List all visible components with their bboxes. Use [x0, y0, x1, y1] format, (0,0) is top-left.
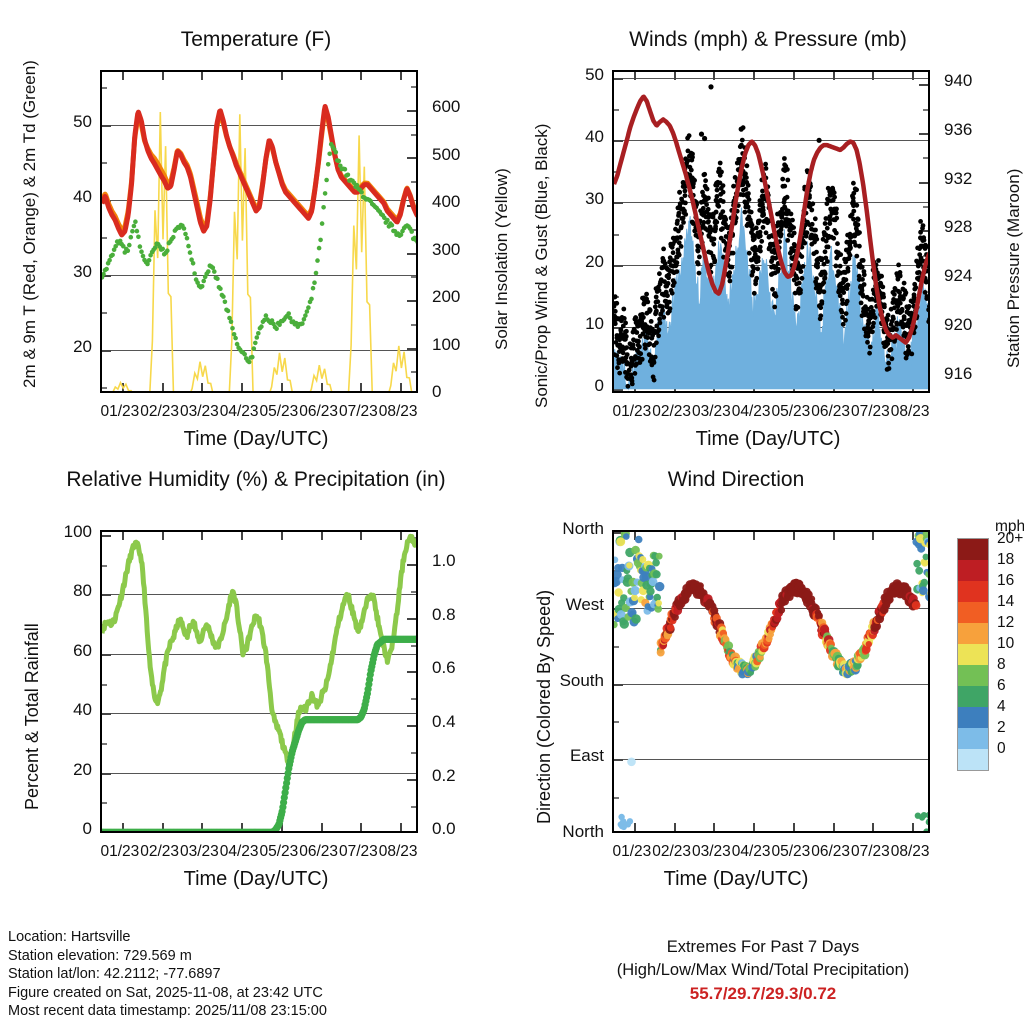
- y-axis-tick-label: 600: [432, 97, 492, 117]
- y-axis-tick-label: 400: [432, 192, 492, 212]
- direction-x-axis-label: Time (Day/UTC): [480, 868, 992, 891]
- y-axis-tick-label: East: [548, 746, 604, 766]
- colorbar-tick-label: 18: [997, 551, 1014, 569]
- y-axis-tick-label: 932: [944, 169, 1004, 189]
- y-axis-tick-label: 200: [432, 287, 492, 307]
- temp-2m-line: [102, 107, 418, 235]
- y-axis-tick-label: 0.4: [432, 712, 492, 732]
- y-axis-tick-label: 20: [36, 337, 92, 357]
- y-axis-tick-label: 10: [548, 314, 604, 334]
- wind-direction-scatter: [614, 532, 930, 833]
- colorbar-tick-label: 14: [997, 593, 1014, 611]
- humidity-plot-area: [100, 530, 418, 833]
- humidity-panel: Relative Humidity (%) & Precipitation (i…: [0, 460, 512, 920]
- colorbar-gradient: [957, 538, 989, 771]
- y-axis-tick-label: 940: [944, 71, 1004, 91]
- y-axis-tick-label: 20: [548, 252, 604, 272]
- y-axis-tick-label: 60: [36, 641, 92, 661]
- y-axis-tick-label: 1.0: [432, 551, 492, 571]
- colorbar-swatch: [958, 644, 988, 665]
- relative-humidity-line: [102, 536, 418, 763]
- y-axis-tick-label: 40: [36, 187, 92, 207]
- extremes-summary: Extremes For Past 7 Days (High/Low/Max W…: [528, 936, 998, 1005]
- metadata-line: Station elevation: 729.569 m: [8, 947, 327, 966]
- y-axis-tick-label: 928: [944, 217, 1004, 237]
- colorbar-swatch: [958, 728, 988, 749]
- y-axis-tick-label: 916: [944, 364, 1004, 384]
- colorbar-tick-label: 8: [997, 656, 1006, 674]
- colorbar-tick-label: 20+: [997, 530, 1023, 548]
- y-axis-tick-label: 40: [36, 700, 92, 720]
- temp-9m-line: [102, 110, 418, 229]
- colorbar-tick-label: 2: [997, 719, 1006, 737]
- colorbar-swatch: [958, 707, 988, 728]
- colorbar-swatch: [958, 749, 988, 770]
- colorbar-swatch: [958, 686, 988, 707]
- y-axis-tick-label: 0: [548, 376, 604, 396]
- colorbar-swatch: [958, 665, 988, 686]
- extremes-values: 55.7/29.7/29.3/0.72: [528, 982, 998, 1005]
- y-axis-tick-label: 300: [432, 240, 492, 260]
- y-tick: [407, 832, 416, 833]
- colorbar-tick-label: 16: [997, 572, 1014, 590]
- colorbar-swatch: [958, 581, 988, 602]
- temperature-panel: Temperature (F) 2m & 9m T (Red, Orange) …: [0, 20, 512, 460]
- direction-y-axis-label: Direction (Colored By Speed): [534, 590, 555, 824]
- y-axis-tick-label: 100: [432, 335, 492, 355]
- y-axis-tick-label: 0: [432, 382, 492, 402]
- y-axis-tick-label: 0.6: [432, 658, 492, 678]
- y-axis-tick-label: West: [548, 595, 604, 615]
- colorbar-swatch: [958, 560, 988, 581]
- metadata-line: Figure created on Sat, 2025-11-08, at 23…: [8, 984, 327, 1003]
- y-axis-tick-label: 50: [36, 112, 92, 132]
- extremes-heading: Extremes For Past 7 Days: [528, 936, 998, 959]
- colorbar-swatch: [958, 602, 988, 623]
- y-axis-tick-label: 0: [36, 819, 92, 839]
- y-axis-tick-label: 50: [548, 65, 604, 85]
- weather-dashboard: Temperature (F) 2m & 9m T (Red, Orange) …: [0, 0, 1024, 1024]
- colorbar-tick-label: 4: [997, 698, 1006, 716]
- y-tick: [102, 832, 111, 833]
- y-axis-tick-label: 20: [36, 760, 92, 780]
- winds-panel-title: Winds (mph) & Pressure (mb): [512, 28, 1024, 52]
- metadata-line: Most recent data timestamp: 2025/11/08 2…: [8, 1002, 327, 1021]
- colorbar-tick-label: 0: [997, 740, 1006, 758]
- y-axis-tick-label: North: [548, 519, 604, 539]
- colorbar-swatch: [958, 539, 988, 560]
- y-axis-tick-label: 920: [944, 315, 1004, 335]
- y-axis-tick-label: 30: [548, 189, 604, 209]
- metadata-line: Location: Hartsville: [8, 928, 327, 947]
- colorbar-swatch: [958, 623, 988, 644]
- y-axis-tick-label: 0.0: [432, 819, 492, 839]
- colorbar-tick-label: 12: [997, 614, 1014, 632]
- colorbar-tick-label: 6: [997, 677, 1006, 695]
- metadata-line: Station lat/lon: 42.2112; -77.6897: [8, 965, 327, 984]
- y-axis-tick-label: 924: [944, 266, 1004, 286]
- y-axis-tick-label: 0.8: [432, 605, 492, 625]
- y-axis-tick-label: South: [548, 671, 604, 691]
- wind-direction-panel: Wind Direction Direction (Colored By Spe…: [512, 460, 1024, 920]
- winds-plot-area: [612, 70, 930, 393]
- humidity-panel-title: Relative Humidity (%) & Precipitation (i…: [0, 468, 512, 492]
- y-axis-tick-label: 30: [36, 262, 92, 282]
- wind-direction-plot-area: [612, 530, 930, 833]
- x-axis-tick-label: 08/23: [884, 403, 936, 421]
- y-axis-tick-label: 100: [36, 522, 92, 542]
- x-axis-tick-label: 08/23: [372, 403, 424, 421]
- humidity-x-axis-label: Time (Day/UTC): [0, 868, 512, 891]
- pressure-axis-label: Station Pressure (Maroon): [1004, 169, 1024, 368]
- station-metadata: Location: HartsvilleStation elevation: 7…: [8, 928, 327, 1021]
- y-axis-tick-label: 80: [36, 581, 92, 601]
- x-axis-tick-label: 08/23: [884, 843, 936, 861]
- winds-panel: Winds (mph) & Pressure (mb) Sonic/Prop W…: [512, 20, 1024, 460]
- temperature-plot-area: [100, 70, 418, 393]
- solar-insolation-axis-label: Solar Insolation (Yellow): [492, 168, 512, 350]
- colorbar-tick-label: 10: [997, 635, 1014, 653]
- x-axis-tick-label: 08/23: [372, 843, 424, 861]
- temperature-x-axis-label: Time (Day/UTC): [0, 428, 512, 451]
- extremes-subheading: (High/Low/Max Wind/Total Precipitation): [528, 959, 998, 982]
- y-axis-tick-label: 0.2: [432, 766, 492, 786]
- y-axis-tick-label: 40: [548, 127, 604, 147]
- wind-direction-panel-title: Wind Direction: [480, 468, 992, 492]
- winds-x-axis-label: Time (Day/UTC): [512, 428, 1024, 451]
- y-axis-tick-label: 936: [944, 120, 1004, 140]
- y-axis-tick-label: North: [548, 822, 604, 842]
- temperature-panel-title: Temperature (F): [0, 28, 512, 52]
- y-axis-tick-label: 500: [432, 145, 492, 165]
